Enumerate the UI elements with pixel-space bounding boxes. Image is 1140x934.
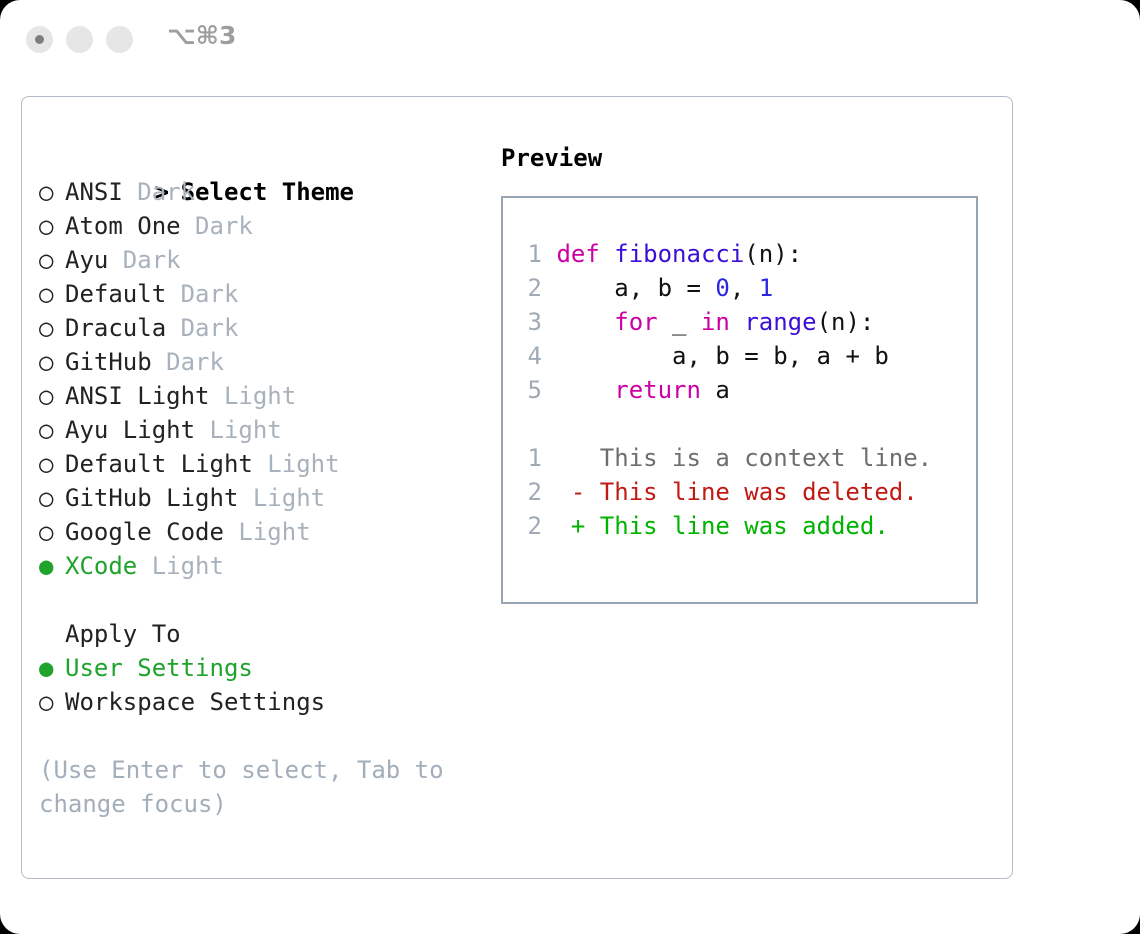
theme-name: XCode [65,552,152,580]
line-number: 1 [516,237,542,271]
theme-list-item[interactable]: ○ GitHub Light Light [39,481,499,515]
keyboard-hint-text: (Use Enter to select, Tab to change focu… [39,753,459,821]
window-minimize-dot[interactable] [66,26,93,53]
preview-heading: Preview [501,141,991,175]
theme-variant-label: Dark [123,246,181,274]
theme-variant-label: Light [238,518,310,546]
radio-selected-icon: ● [39,651,65,685]
line-number: 1 [516,441,542,475]
radio-selected-icon: ● [39,549,65,583]
theme-variant-label: Dark [137,178,195,206]
apply-to-heading: Apply To [39,617,499,651]
theme-name: Ayu [65,246,123,274]
code-token-pl: _ [658,308,701,336]
active-indicator-dot [35,35,44,44]
code-token-pl: a [701,376,730,404]
keyboard-shortcut-label: ⌥⌘3 [167,21,236,50]
gutter-gap [542,342,556,370]
theme-list-item[interactable]: ○ GitHub Dark [39,345,499,379]
line-number: 2 [516,475,542,509]
code-token-pl: a, b = [556,274,715,302]
code-token-kw: return [614,376,701,404]
code-line: 4 a, b = b, a + b [516,339,966,373]
diff-line-text: - This line was deleted. [542,478,918,506]
theme-variant-label: Light [224,382,296,410]
code-line: 2 a, b = 0, 1 [516,271,966,305]
theme-list-item[interactable]: ○ Dracula Dark [39,311,499,345]
theme-name: Google Code [65,518,238,546]
theme-name: Default Light [65,450,267,478]
theme-name: Atom One [65,212,195,240]
apply-to-option[interactable]: ○ Workspace Settings [39,685,499,719]
theme-variant-label: Light [267,450,339,478]
code-token-pl [556,308,614,336]
theme-list-item[interactable]: ● XCode Light [39,549,499,583]
theme-variant-label: Dark [195,212,253,240]
line-number: 4 [516,339,542,373]
code-token-pl: (n): [744,240,802,268]
code-token-pl: , [730,274,759,302]
code-token-kw: for [614,308,657,336]
settings-panel: > Select Theme ○ ANSI Dark○ Atom One Dar… [21,96,1013,879]
theme-name: Ayu Light [65,416,210,444]
radio-unselected-icon: ○ [39,311,65,345]
theme-variant-label: Light [152,552,224,580]
radio-unselected-icon: ○ [39,413,65,447]
line-number: 3 [516,305,542,339]
radio-unselected-icon: ○ [39,447,65,481]
theme-list-item[interactable]: ○ ANSI Light Light [39,379,499,413]
code-token-num: 1 [759,274,773,302]
line-number: 2 [516,509,542,543]
code-token-kw: def [556,240,614,268]
theme-name: Dracula [65,314,181,342]
theme-name: GitHub Light [65,484,253,512]
apply-to-options: ● User Settings○ Workspace Settings [39,651,499,719]
code-token-pl [730,308,744,336]
radio-unselected-icon: ○ [39,277,65,311]
terminal-window: ⌥⌘3 > Select Theme ○ ANSI Dark○ Atom One… [0,0,1140,934]
window-close-dot[interactable] [26,26,53,53]
theme-list-item[interactable]: ○ Default Dark [39,277,499,311]
code-line: 5 return a [516,373,966,407]
diff-line-text: + This line was added. [542,512,889,540]
code-token-fn: fibonacci [614,240,744,268]
line-number: 5 [516,373,542,407]
radio-unselected-icon: ○ [39,481,65,515]
theme-variant-label: Dark [181,314,239,342]
code-token-pl [556,376,614,404]
gutter-gap [542,274,556,302]
theme-name: GitHub [65,348,166,376]
radio-unselected-icon: ○ [39,345,65,379]
diff-sample-lines: 1 This is a context line.2 - This line w… [516,441,966,543]
title-bar: ⌥⌘3 [0,0,1140,78]
theme-name: ANSI Light [65,382,224,410]
preview-box: 1 def fibonacci(n):2 a, b = 0, 13 for _ … [501,196,978,604]
theme-selector-column: > Select Theme ○ ANSI Dark○ Atom One Dar… [39,141,499,821]
radio-unselected-icon: ○ [39,515,65,549]
theme-list-item[interactable]: ○ Ayu Light Light [39,413,499,447]
gutter-gap [542,376,556,404]
theme-list-item[interactable]: ○ Google Code Light [39,515,499,549]
theme-list: ○ ANSI Dark○ Atom One Dark○ Ayu Dark○ De… [39,175,499,583]
code-line: 1 def fibonacci(n): [516,237,966,271]
radio-unselected-icon: ○ [39,685,65,719]
code-token-fn: range [744,308,816,336]
line-number: 2 [516,271,542,305]
theme-variant-label: Dark [166,348,224,376]
radio-unselected-icon: ○ [39,243,65,277]
list-spacer [39,583,499,617]
theme-list-item[interactable]: ○ Ayu Dark [39,243,499,277]
select-theme-heading: > Select Theme [39,141,499,175]
theme-name: Default [65,280,181,308]
select-theme-label: Select Theme [181,178,354,206]
radio-unselected-icon: ○ [39,209,65,243]
code-token-pl: (n): [817,308,875,336]
theme-list-item[interactable]: ○ Atom One Dark [39,209,499,243]
gutter-gap [542,308,556,336]
theme-name: ANSI [65,178,137,206]
radio-unselected-icon: ○ [39,175,65,209]
code-blank-line [516,407,966,441]
apply-to-option[interactable]: ● User Settings [39,651,499,685]
code-token-kw: in [701,308,730,336]
code-token-num: 0 [715,274,729,302]
code-line: 3 for _ in range(n): [516,305,966,339]
theme-variant-label: Light [253,484,325,512]
gutter-gap [542,240,556,268]
window-maximize-dot[interactable] [106,26,133,53]
apply-to-option-label: User Settings [65,654,253,682]
syntax-sample-lines: 1 def fibonacci(n):2 a, b = 0, 13 for _ … [516,237,966,407]
code-preview-area: 1 def fibonacci(n):2 a, b = 0, 13 for _ … [516,237,966,543]
preview-column: Preview 1 def fibonacci(n):2 a, b = 0, 1… [501,141,991,604]
theme-variant-label: Dark [181,280,239,308]
diff-line: 2 - This line was deleted. [516,475,966,509]
radio-unselected-icon: ○ [39,379,65,413]
apply-to-option-label: Workspace Settings [65,688,325,716]
diff-line-text: This is a context line. [542,444,932,472]
theme-variant-label: Light [210,416,282,444]
code-token-pl: a, b = b, a + b [556,342,888,370]
theme-list-item[interactable]: ○ Default Light Light [39,447,499,481]
diff-line: 2 + This line was added. [516,509,966,543]
diff-line: 1 This is a context line. [516,441,966,475]
